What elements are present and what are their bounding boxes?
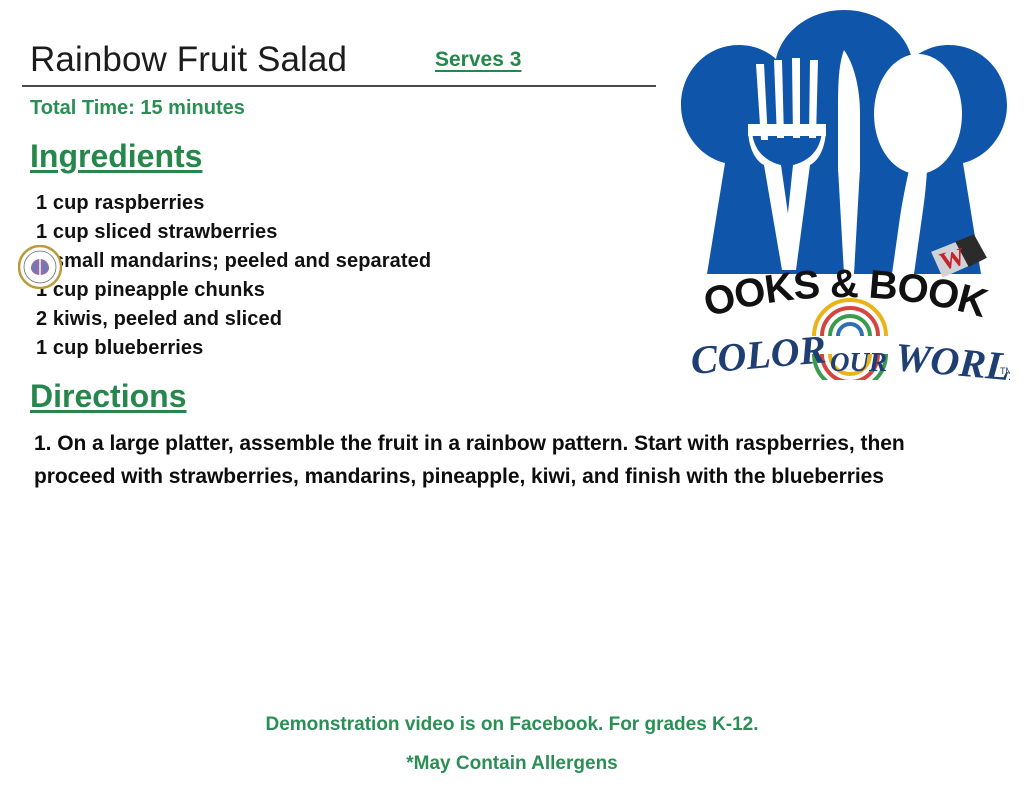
serves-label: Serves 3 (435, 46, 521, 74)
list-item: 6 small mandarins; peeled and separated (36, 247, 636, 276)
title-divider (22, 85, 656, 87)
footer: Demonstration video is on Facebook. For … (0, 705, 1024, 783)
list-item: 1 cup pineapple chunks (36, 276, 636, 305)
ingredients-list: 1 cup raspberries 1 cup sliced strawberr… (36, 189, 636, 363)
list-item: 1 cup blueberries (36, 334, 636, 363)
cooks-and-books-logo: COOKS & BOOKS W (678, 2, 1010, 380)
list-item: 1 cup sliced strawberries (36, 218, 636, 247)
ingredients-heading: Ingredients (30, 136, 202, 176)
chef-hat-icon (681, 10, 1007, 274)
svg-text:WORLD: WORLD (893, 334, 1010, 380)
footer-line-allergens: *May Contain Allergens (0, 744, 1024, 783)
recipe-card: Rainbow Fruit Salad Serves 3 Total Time:… (0, 0, 1024, 791)
svg-text:COLOR: COLOR (689, 326, 828, 380)
recipe-header: Rainbow Fruit Salad Serves 3 (22, 38, 658, 82)
svg-text:TM: TM (1000, 366, 1010, 376)
list-item: 2 kiwis, peeled and sliced (36, 305, 636, 334)
page-title: Rainbow Fruit Salad (30, 38, 347, 82)
directions-text: 1. On a large platter, assemble the frui… (34, 428, 914, 493)
list-item: 1 cup raspberries (36, 189, 636, 218)
total-time-label: Total Time: 15 minutes (30, 95, 245, 121)
directions-heading: Directions (30, 376, 186, 416)
svg-text:OUR: OUR (830, 347, 887, 377)
library-seal-icon (18, 245, 62, 289)
footer-line-demo: Demonstration video is on Facebook. For … (0, 705, 1024, 744)
